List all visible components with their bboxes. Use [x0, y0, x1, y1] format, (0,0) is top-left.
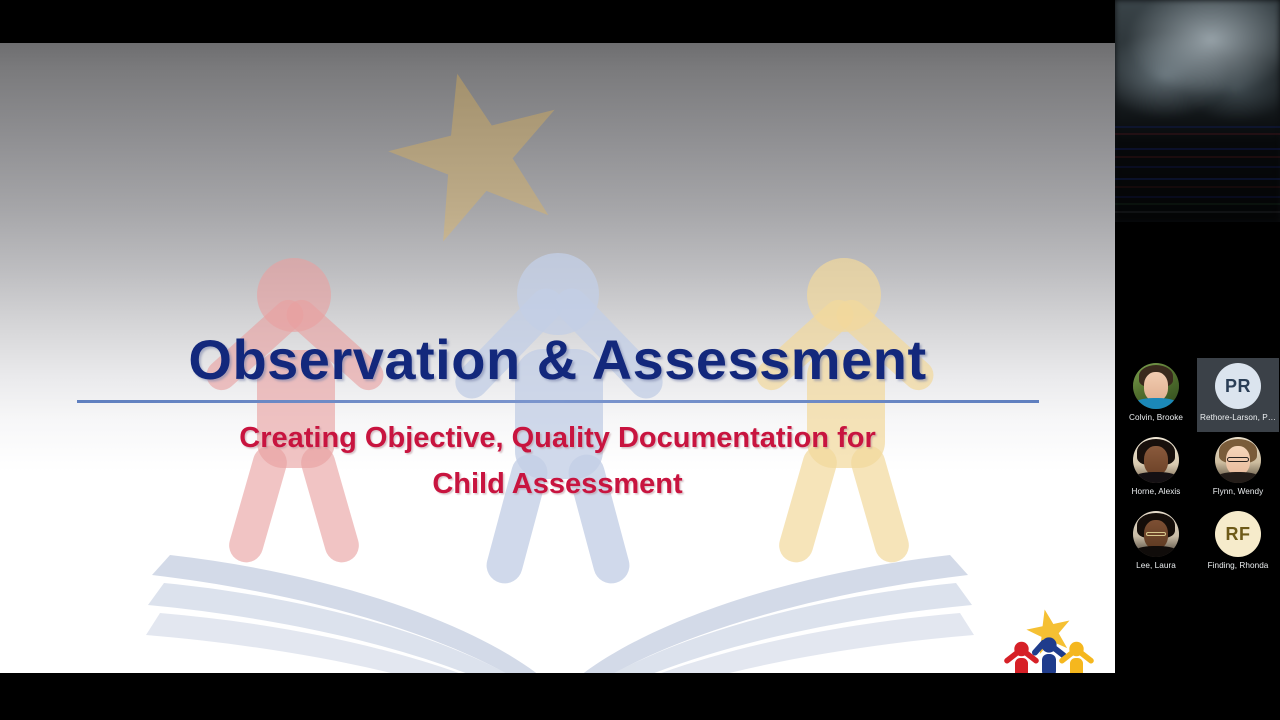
participant-rail: Colvin, Brooke PR Rethore-Larson, P…	[1115, 0, 1280, 720]
participant-name: Finding, Rhonda	[1208, 561, 1269, 570]
subtitle-line-1: Creating Objective, Quality Documentatio…	[239, 422, 876, 454]
arizona-doe-logo-icon	[995, 601, 1103, 673]
participant-tile[interactable]: Colvin, Brooke	[1115, 358, 1197, 432]
avatar-photo	[1133, 511, 1179, 557]
avatar-photo	[1133, 363, 1179, 409]
avatar-photo	[1133, 437, 1179, 483]
participant-tile[interactable]: Lee, Laura	[1115, 506, 1197, 580]
active-speaker-video[interactable]	[1115, 0, 1280, 222]
avatar	[1215, 437, 1261, 483]
avatar-initials: PR	[1215, 363, 1261, 409]
meeting-window: Observation & Assessment Creating Object…	[0, 0, 1280, 720]
avatar: RF	[1215, 511, 1261, 557]
page-title: Observation & Assessment	[0, 327, 1115, 392]
participant-tile[interactable]: Flynn, Wendy	[1197, 432, 1279, 506]
participant-name: Flynn, Wendy	[1213, 487, 1264, 496]
participant-tile-active[interactable]: PR Rethore-Larson, P…	[1197, 358, 1279, 432]
letterbox-bottom	[0, 673, 1280, 720]
letterbox-top	[0, 0, 1115, 43]
watermark-open-book-icon	[130, 513, 990, 673]
participant-name: Horne, Alexis	[1132, 487, 1181, 496]
avatar-photo	[1215, 437, 1261, 483]
avatar	[1133, 363, 1179, 409]
participant-thumbnail-grid: Colvin, Brooke PR Rethore-Larson, P…	[1115, 358, 1280, 580]
participant-row: Horne, Alexis Flynn, Wendy	[1115, 432, 1280, 506]
avatar-initials: RF	[1215, 511, 1261, 557]
avatar	[1133, 511, 1179, 557]
participant-tile[interactable]: Horne, Alexis	[1115, 432, 1197, 506]
slide-subtitle: Creating Objective, Quality Documentatio…	[0, 415, 1115, 507]
avatar: PR	[1215, 363, 1261, 409]
subtitle-line-2: Child Assessment	[0, 461, 1115, 507]
avatar	[1133, 437, 1179, 483]
video-glitch-artifacts	[1115, 0, 1280, 222]
shared-screen-slide[interactable]: Observation & Assessment Creating Object…	[0, 43, 1115, 673]
participant-row: Colvin, Brooke PR Rethore-Larson, P…	[1115, 358, 1280, 432]
title-divider	[77, 400, 1039, 403]
participant-row: Lee, Laura RF Finding, Rhonda	[1115, 506, 1280, 580]
participant-name: Rethore-Larson, P…	[1200, 413, 1276, 422]
participant-name: Colvin, Brooke	[1129, 413, 1183, 422]
participant-tile[interactable]: RF Finding, Rhonda	[1197, 506, 1279, 580]
participant-name: Lee, Laura	[1136, 561, 1176, 570]
